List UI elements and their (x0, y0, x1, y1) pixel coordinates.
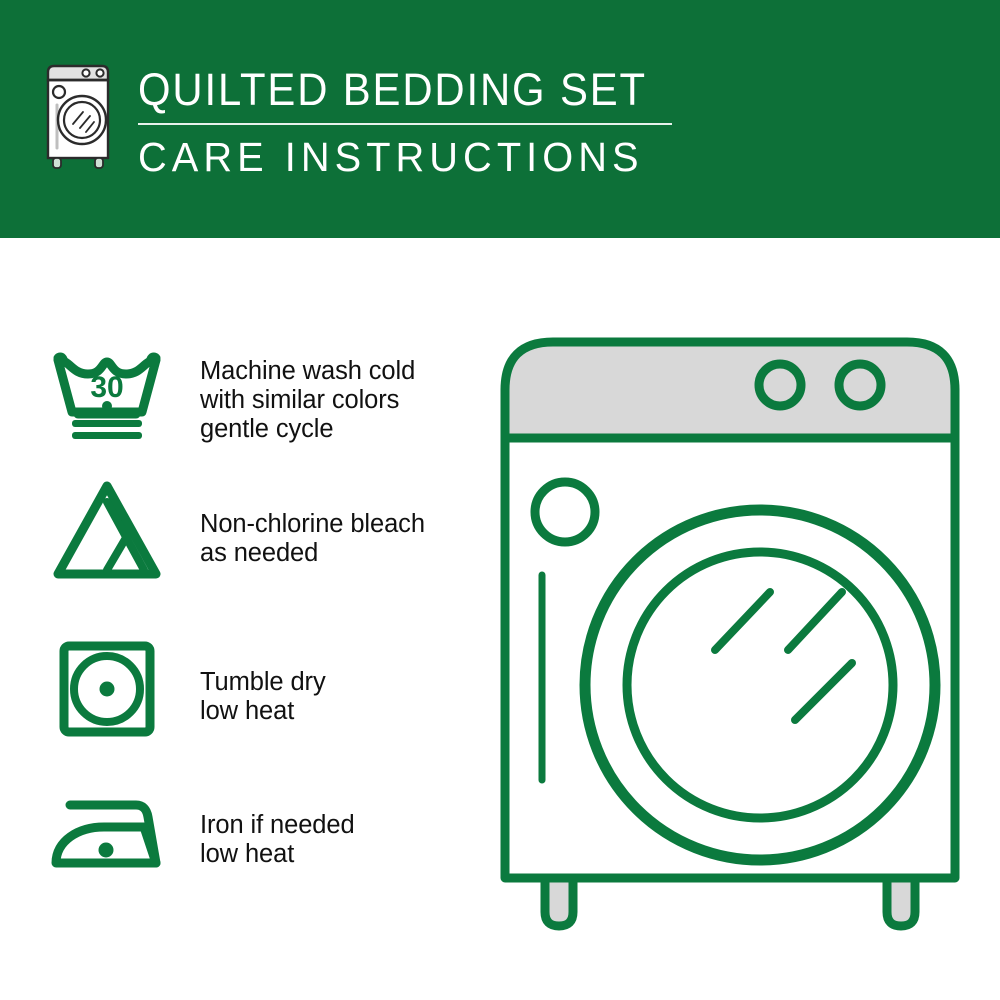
door-inner-ring (627, 552, 893, 818)
care-instruction-text: Non-chlorine bleach as needed (200, 510, 425, 568)
control-panel (505, 342, 955, 438)
header-text-block: QUILTED BEDDING SET CARE INSTRUCTIONS (138, 62, 685, 180)
tumble-dry-low-heat-icon (48, 638, 166, 746)
knob-right[interactable] (839, 364, 881, 406)
care-instruction-row: Iron if needed low heat (48, 783, 355, 891)
knob-left[interactable] (759, 364, 801, 406)
care-instruction-row: Tumble dry low heat (48, 638, 326, 746)
non-chlorine-bleach-triangle-icon (48, 478, 166, 586)
washing-machine-logo-icon (42, 62, 120, 172)
page-title: QUILTED BEDDING SET (138, 65, 647, 115)
care-instruction-text: Iron if needed low heat (200, 811, 355, 869)
care-instruction-list: 30 Machine wash cold with similar colors… (0, 238, 480, 1000)
front-load-washing-machine-illustration (470, 320, 990, 950)
care-instruction-text: Machine wash cold with similar colors ge… (200, 357, 415, 444)
page-subtitle: CARE INSTRUCTIONS (138, 135, 669, 180)
foot-right (887, 878, 915, 926)
care-instruction-text: Tumble dry low heat (200, 668, 326, 726)
header-content: QUILTED BEDDING SET CARE INSTRUCTIONS (42, 62, 685, 180)
dial-circle[interactable] (535, 482, 595, 542)
wash-temperature-label: 30 (90, 371, 123, 404)
care-instruction-row: 30 Machine wash cold with similar colors… (48, 340, 415, 448)
iron-low-heat-icon (48, 783, 166, 891)
wash-tub-30-gentle-icon: 30 (48, 340, 166, 448)
header-divider (138, 123, 672, 125)
care-instruction-row: Non-chlorine bleach as needed (48, 478, 425, 586)
foot-left (545, 878, 573, 926)
header-band: QUILTED BEDDING SET CARE INSTRUCTIONS (0, 0, 1000, 238)
